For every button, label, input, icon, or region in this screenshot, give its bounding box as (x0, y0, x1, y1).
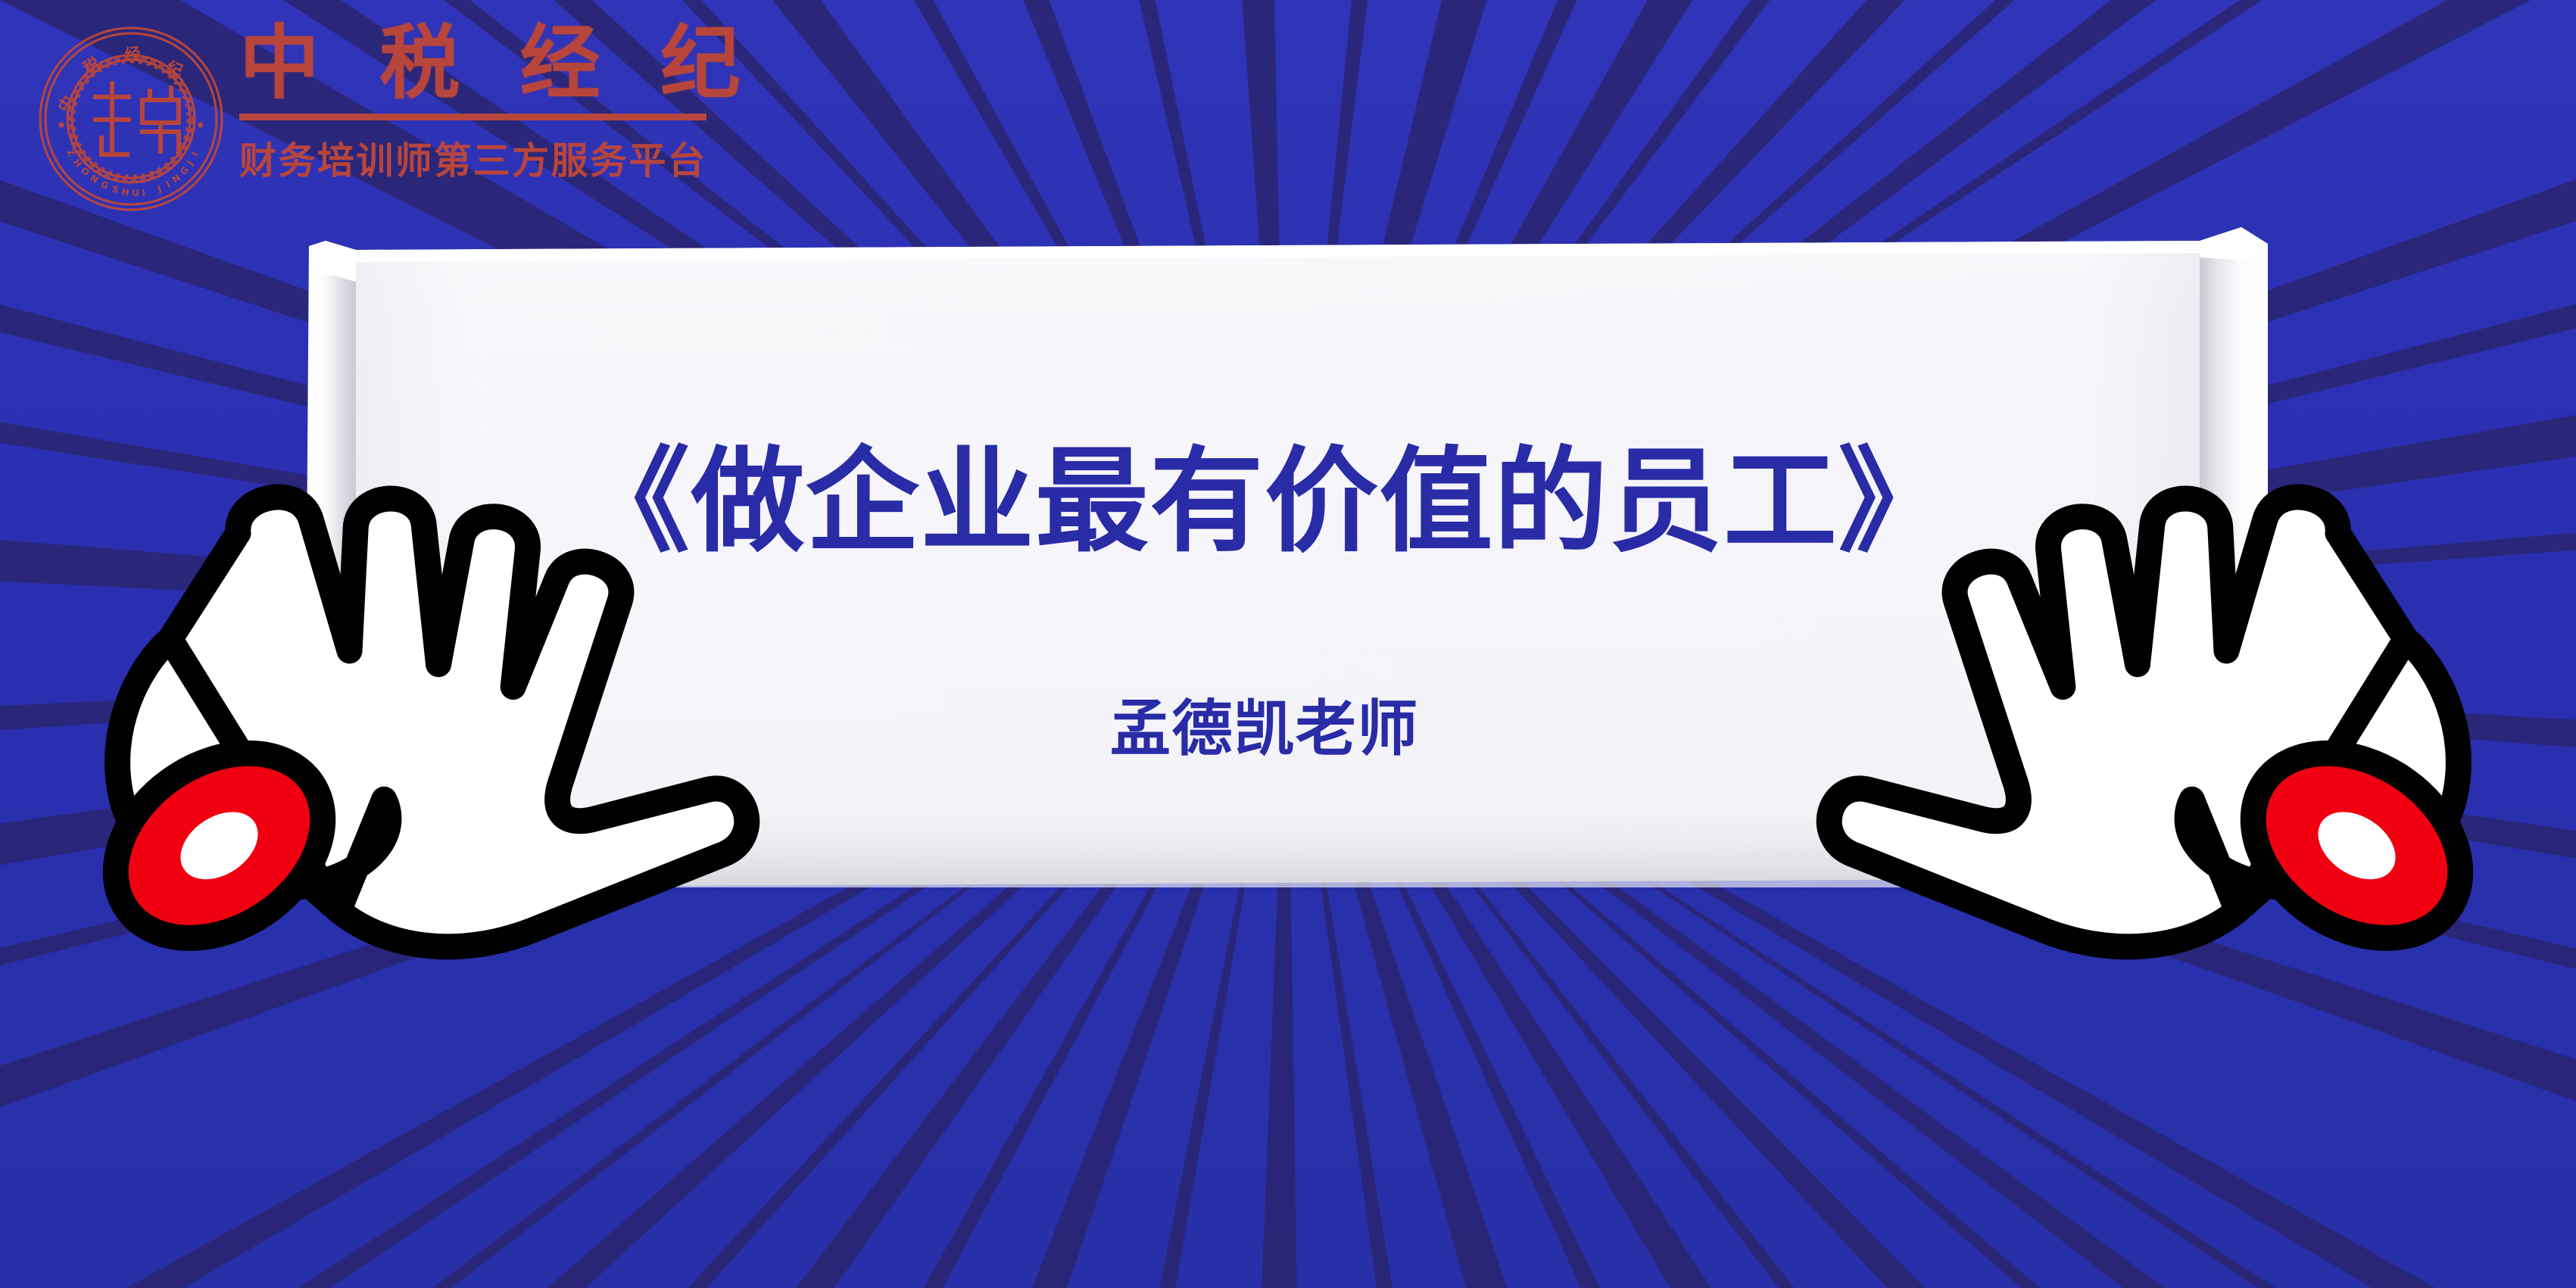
svg-text:I: I (141, 187, 145, 198)
page-title: 《做企业最有价值的员工》 (576, 443, 1953, 563)
brand-subtitle: 财务培训师第三方服务平台 (239, 131, 731, 185)
svg-text:I: I (189, 150, 201, 157)
logo-text-block: 中 税 经 纪 财务培训师第三方服务平台 (239, 23, 731, 185)
svg-text:H: H (121, 186, 130, 198)
svg-text:纪: 纪 (164, 57, 186, 80)
svg-text:S: S (111, 183, 120, 195)
brand-divider (239, 114, 706, 120)
svg-text:G: G (178, 164, 191, 177)
svg-text:I: I (164, 179, 173, 189)
brand-name: 中 税 经 纪 (239, 23, 731, 103)
svg-text:N: N (170, 172, 182, 185)
presenter-name: 孟德凯老师 (1110, 680, 1419, 768)
svg-text:税: 税 (80, 53, 103, 77)
banner-text-block: 《做企业最有价值的员工》 孟德凯老师 (326, 250, 2203, 909)
svg-text:G: G (99, 179, 111, 192)
svg-text:U: U (132, 188, 139, 198)
svg-text:J: J (184, 158, 195, 167)
company-logo: 中 税 经 纪 Z H O N G S H U I J I N G J (36, 17, 741, 221)
svg-text:经: 经 (123, 43, 142, 64)
svg-text:J: J (155, 183, 163, 195)
presentation-slide: 中 税 经 纪 Z H O N G S H U I J I N G J (0, 0, 2576, 1288)
company-seal-icon: 中 税 经 纪 Z H O N G S H U I J I N G J (36, 24, 226, 214)
svg-text:Z: Z (64, 148, 77, 159)
